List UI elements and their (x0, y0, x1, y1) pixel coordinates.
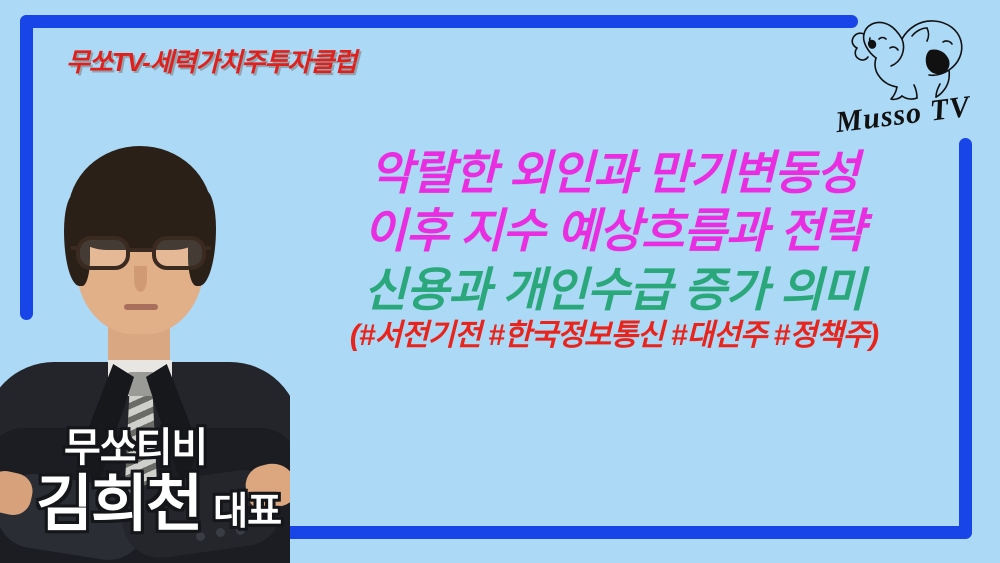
nameplate-name: 김희천 (36, 474, 201, 536)
nose (134, 266, 147, 292)
nameplate-channel: 무쏘티비 (64, 428, 316, 468)
frame-bar-right (959, 138, 972, 538)
nameplate-title: 대표 (213, 493, 281, 536)
headline-line-2: 이후 지수 예상흐름과 전략 (278, 206, 950, 255)
brand-logo: Musso TV (828, 12, 978, 152)
thumbnail-canvas: 무쏘TV-세력가치주투자클럽 (0, 0, 1000, 563)
headline-line-1: 악랄한 외인과 만기변동성 (278, 148, 950, 197)
frame-bar-top (20, 15, 858, 28)
mouth (124, 304, 158, 310)
frame-bar-bottom (277, 526, 972, 539)
headline-block: 악랄한 외인과 만기변동성 이후 지수 예상흐름과 전략 신용과 개인수급 증가… (278, 148, 950, 352)
presenter-nameplate: 무쏘티비 김희천 대표 (36, 428, 316, 536)
headline-hashtags: (#서전기전 #한국정보통신 #대선주 #정책주) (278, 320, 950, 352)
headline-line-3: 신용과 개인수급 증가 의미 (278, 265, 950, 314)
channel-tag: 무쏘TV-세력가치주투자클럽 (66, 42, 356, 79)
nameplate-row: 김희천 대표 (36, 474, 316, 536)
